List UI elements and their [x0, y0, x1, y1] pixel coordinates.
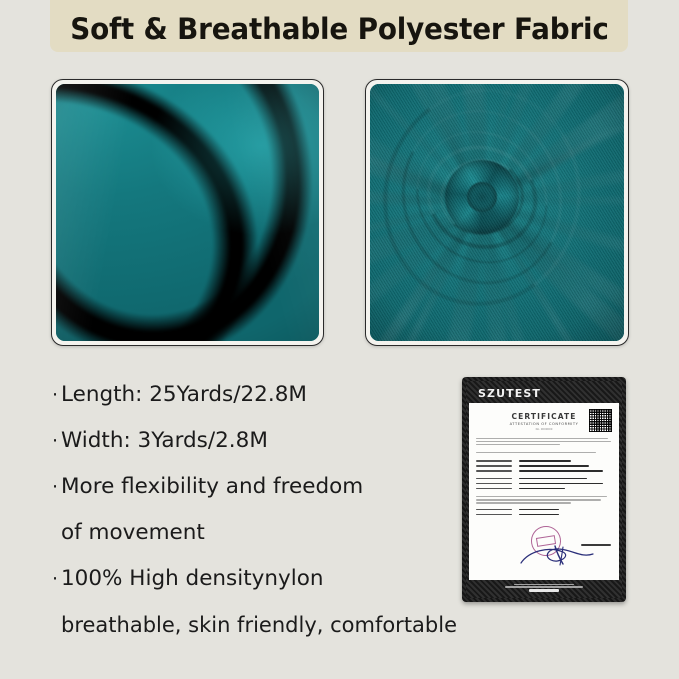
list-item: · Width: 3Yards/2.8M — [52, 418, 452, 464]
list-item: · Length: 25Yards/22.8M — [52, 372, 452, 418]
qr-code-icon — [589, 409, 612, 432]
certificate-field-row — [476, 460, 612, 462]
list-item-continuation: · of movement — [52, 510, 452, 556]
feature-list: · Length: 25Yards/22.8M · Width: 3Yards/… — [52, 372, 452, 649]
list-item-label: of movement — [61, 510, 205, 556]
bullet-glyph: · — [52, 372, 61, 418]
knit-swirl-photo — [365, 79, 629, 346]
signature-label — [581, 544, 611, 546]
bullet-glyph: · — [52, 418, 61, 464]
certificate-footer-tag — [529, 589, 559, 592]
bullet-glyph: · — [52, 556, 61, 602]
satin-vignette-layer — [56, 84, 319, 341]
certificate-image: SZUTEST CERTIFICATE ATTESTATION OF CONFO… — [462, 377, 626, 602]
certificate-field-row — [476, 488, 612, 490]
certificate-clause-text — [476, 452, 612, 453]
certificate-fields — [476, 460, 612, 489]
list-item: · More flexibility and freedom — [52, 464, 452, 510]
approval-stamp-icon — [529, 524, 563, 558]
certificate-field-row — [476, 478, 612, 480]
header-banner: Soft & Breathable Polyester Fabric — [50, 0, 628, 52]
certificate-date-row — [476, 509, 612, 511]
infographic-page: Soft & Breathable Polyester Fabric · Len… — [0, 0, 679, 679]
certificate-field-row — [476, 470, 612, 472]
certificate-document: CERTIFICATE ATTESTATION OF CONFORMITY No… — [469, 403, 619, 580]
list-item-label: breathable, skin friendly, comfortable — [61, 602, 457, 648]
knit-vignette-layer — [370, 84, 624, 341]
list-item-label: More flexibility and freedom — [61, 464, 363, 510]
list-item-label: Width: 3Yards/2.8M — [61, 418, 268, 464]
certificate-field-row — [476, 483, 612, 485]
certificate-expiry-row — [476, 514, 612, 516]
page-title: Soft & Breathable Polyester Fabric — [70, 12, 608, 46]
list-item-continuation: · breathable, skin friendly, comfortable — [52, 602, 452, 649]
satin-drape-image — [56, 84, 319, 341]
certificate-footer-line — [514, 584, 574, 585]
certificate-footnote-text — [476, 496, 612, 504]
satin-drape-photo — [51, 79, 324, 346]
certificate-field-row — [476, 465, 612, 467]
certificate-header-bar: SZUTEST — [469, 384, 619, 403]
certificate-body-text — [476, 438, 612, 446]
certificate-footer-line — [505, 586, 583, 587]
list-item: · 100% High densitynylon — [52, 556, 452, 602]
knit-swirl-image — [370, 84, 624, 341]
certificate-footer-bar — [469, 580, 619, 595]
list-item-label: 100% High densitynylon — [61, 556, 323, 602]
certificate-frame: SZUTEST CERTIFICATE ATTESTATION OF CONFO… — [466, 381, 622, 598]
bullet-glyph: · — [52, 464, 61, 510]
certificate-brand-label: SZUTEST — [478, 387, 541, 400]
list-item-label: Length: 25Yards/22.8M — [61, 372, 307, 418]
